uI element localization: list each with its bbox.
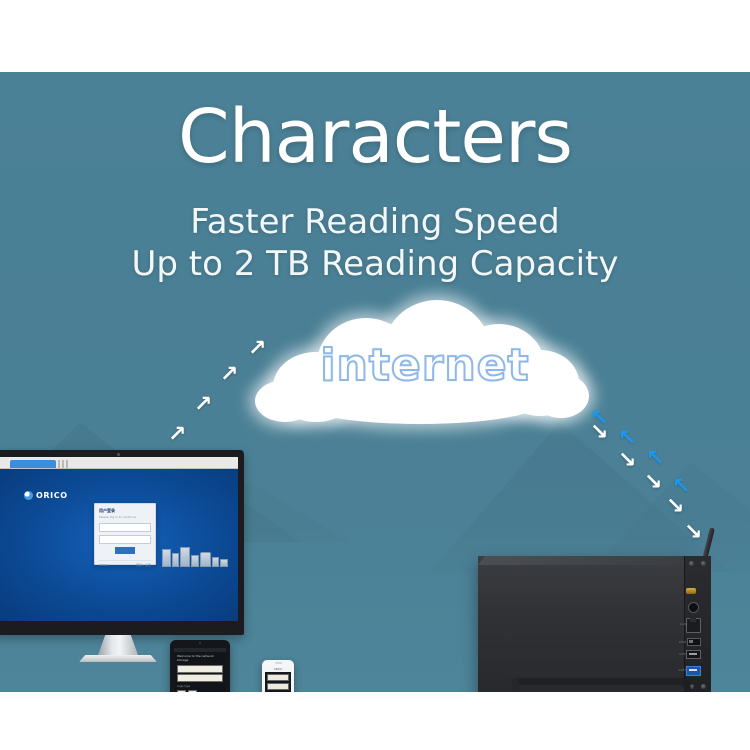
tablet-screen-title: Welcome to the network storage xyxy=(174,652,226,663)
subtitle-line-1: Faster Reading Speed xyxy=(0,202,750,242)
rj45-icon[interactable] xyxy=(686,618,701,633)
cloud-icon: internet xyxy=(255,294,595,429)
login-card-subtitle: Please log in to continue xyxy=(99,515,151,519)
power-jack-icon[interactable] xyxy=(688,602,699,613)
smartphone: ORICO xyxy=(262,660,294,692)
orico-wordmark: ORICO xyxy=(36,491,68,500)
enclosure-stand xyxy=(514,678,692,692)
login-card: 用户登录 Please log in to continue ORICO 帮助 … xyxy=(94,503,156,565)
screw-icon xyxy=(701,684,706,689)
tablet-camera-icon xyxy=(199,642,201,644)
monitor-stand-base xyxy=(79,655,157,662)
upload-arrow-left: ↗ xyxy=(220,364,238,386)
browser-address-bar[interactable] xyxy=(58,460,68,468)
product-banner: Characters Faster Reading Speed Up to 2 … xyxy=(0,0,750,750)
login-footer-links[interactable]: 帮助 | 设置 xyxy=(136,563,151,567)
phone-earpiece-icon xyxy=(275,662,282,664)
phone-password-input[interactable] xyxy=(267,683,289,690)
tablet: Welcome to the network storage Login typ… xyxy=(170,640,230,692)
login-footer-brand: ORICO xyxy=(99,563,109,567)
download-arrow-right: ↘ xyxy=(618,450,636,472)
screw-icon xyxy=(689,561,694,566)
username-input[interactable] xyxy=(99,523,151,532)
port-label-usb: USB xyxy=(679,652,686,656)
phone-status-bar: ORICO xyxy=(265,667,291,672)
upload-arrow-right: ↖ xyxy=(590,408,608,430)
subtitle-line-2: Up to 2 TB Reading Capacity xyxy=(0,244,750,284)
login-card-footer: ORICO 帮助 | 设置 xyxy=(99,560,151,567)
tablet-button-group[interactable] xyxy=(174,689,226,693)
monitor-bezel: ORICO 用户登录 Please log in to continue ORI… xyxy=(0,450,244,635)
desktop-monitor: ORICO 用户登录 Please log in to continue ORI… xyxy=(0,450,244,662)
browser-tab[interactable] xyxy=(10,460,56,468)
orico-mark-icon xyxy=(24,491,33,500)
tablet-button[interactable] xyxy=(177,690,186,693)
tablet-button[interactable] xyxy=(188,690,197,693)
browser-toolbar[interactable] xyxy=(0,457,238,469)
enclosure-top-edge xyxy=(478,556,691,565)
download-arrow-right: ↘ xyxy=(666,496,684,518)
port-label-usb3: USB3 xyxy=(678,668,687,672)
usb3-port-icon[interactable] xyxy=(686,666,701,676)
webcam-icon xyxy=(117,453,120,456)
password-input[interactable] xyxy=(99,535,151,544)
cloud-label: internet xyxy=(255,340,595,391)
usb-port-icon[interactable] xyxy=(686,650,701,659)
phone-account-input[interactable] xyxy=(267,674,289,681)
server-buildings-icon xyxy=(162,547,228,567)
enclosure-body xyxy=(478,556,684,692)
monitor-screen: ORICO 用户登录 Please log in to continue ORI… xyxy=(0,457,238,621)
monitor-stand-neck xyxy=(98,635,138,655)
upload-arrow-right: ↖ xyxy=(672,476,690,498)
screw-icon xyxy=(701,561,706,566)
orico-logo: ORICO xyxy=(24,491,68,500)
download-arrow-right: ↘ xyxy=(644,472,662,494)
toggle-switch-icon[interactable] xyxy=(687,638,701,646)
login-card-title: 用户登录 xyxy=(99,508,151,514)
upload-arrow-left: ↗ xyxy=(194,394,212,416)
tablet-screen: Welcome to the network storage Login typ… xyxy=(174,648,226,692)
download-arrow-right: ↘ xyxy=(684,522,702,544)
phone-screen: ORICO xyxy=(265,667,291,692)
upload-arrow-right: ↖ xyxy=(618,428,636,450)
tablet-password-input[interactable] xyxy=(177,674,223,682)
page-title: Characters xyxy=(0,100,750,174)
antenna-connector-icon xyxy=(686,588,696,594)
port-label-pwr: PWR xyxy=(679,640,686,644)
port-label-lan: LAN xyxy=(680,622,687,626)
tablet-account-input[interactable] xyxy=(177,665,223,673)
orico-login-page: ORICO 用户登录 Please log in to continue ORI… xyxy=(0,469,238,621)
phone-brand-label: ORICO xyxy=(265,667,291,672)
upload-arrow-left: ↗ xyxy=(168,424,186,446)
teal-panel: Characters Faster Reading Speed Up to 2 … xyxy=(0,72,750,692)
login-submit-button[interactable] xyxy=(115,547,135,554)
upload-arrow-right: ↖ xyxy=(646,448,664,470)
network-storage-enclosure: LAN PWR USB USB3 xyxy=(478,550,700,692)
stand-top-bar xyxy=(514,678,692,685)
